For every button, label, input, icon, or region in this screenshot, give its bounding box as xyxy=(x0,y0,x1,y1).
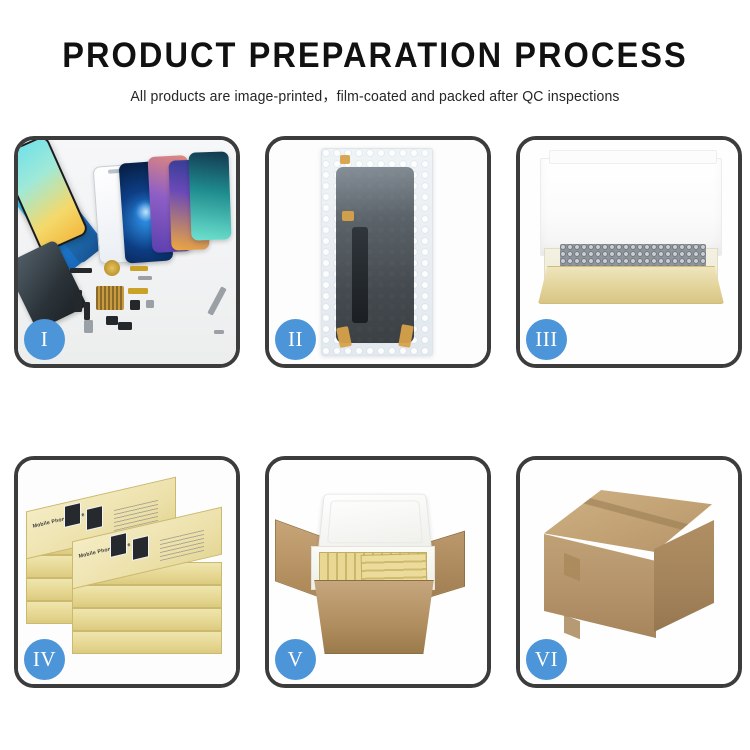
flex-cable-icon xyxy=(352,227,368,323)
tape-icon xyxy=(340,155,350,164)
stacked-box-item xyxy=(72,585,222,608)
part-connector-icon xyxy=(128,288,148,294)
tape-icon xyxy=(342,211,354,221)
lcd-screen-icon xyxy=(336,167,414,343)
part-vibrator-icon xyxy=(106,316,118,325)
part-sim-tray-icon xyxy=(84,320,93,333)
stacked-box-item xyxy=(72,631,222,654)
box-label-window-icon xyxy=(64,502,81,528)
step-badge-1: I xyxy=(24,319,65,360)
foam-lid-icon xyxy=(318,494,432,552)
phone-display-teal-icon xyxy=(188,151,231,240)
page-subtitle: All products are image-printed，film-coat… xyxy=(11,85,739,106)
bubble-wrap-bag-icon xyxy=(321,148,433,356)
process-step-6: VI xyxy=(516,456,742,688)
page-title: PRODUCT PREPARATION PROCESS xyxy=(26,38,724,75)
process-step-3: III xyxy=(516,136,742,368)
part-camera-icon xyxy=(130,300,140,310)
part-buzzer-icon xyxy=(118,322,132,330)
part-chip-icon xyxy=(70,268,92,273)
process-step-1: I xyxy=(14,136,240,368)
step-badge-2: II xyxy=(275,319,316,360)
box-front-icon xyxy=(538,266,724,304)
box-label-window-icon xyxy=(110,532,127,558)
process-step-4: Mobile Phone Spare Parts Mobile Phone Sp… xyxy=(14,456,240,688)
page-header: PRODUCT PREPARATION PROCESS All products… xyxy=(0,0,750,106)
step-badge-6: VI xyxy=(526,639,567,680)
part-flex-icon xyxy=(84,302,90,320)
part-flex-icon xyxy=(74,290,82,312)
stacked-box-item xyxy=(72,608,222,631)
process-steps-grid: I II III xyxy=(14,136,736,688)
box-label-window-icon xyxy=(86,505,103,531)
process-step-2: II xyxy=(265,136,491,368)
ic-chip-icon xyxy=(96,286,124,310)
screwdriver-icon xyxy=(214,330,224,334)
step-badge-4: IV xyxy=(24,639,65,680)
step-badge-5: V xyxy=(275,639,316,680)
part-screw-icon xyxy=(146,300,154,308)
box-label-window-icon xyxy=(132,535,149,561)
box-lid-icon xyxy=(540,158,722,256)
process-step-5: V xyxy=(265,456,491,688)
part-chip-icon xyxy=(130,266,148,271)
carton-body-icon xyxy=(309,580,439,654)
part-chip-icon xyxy=(138,276,152,280)
step-badge-3: III xyxy=(526,319,567,360)
tape-icon xyxy=(398,324,414,348)
speaker-coil-icon xyxy=(104,260,120,276)
